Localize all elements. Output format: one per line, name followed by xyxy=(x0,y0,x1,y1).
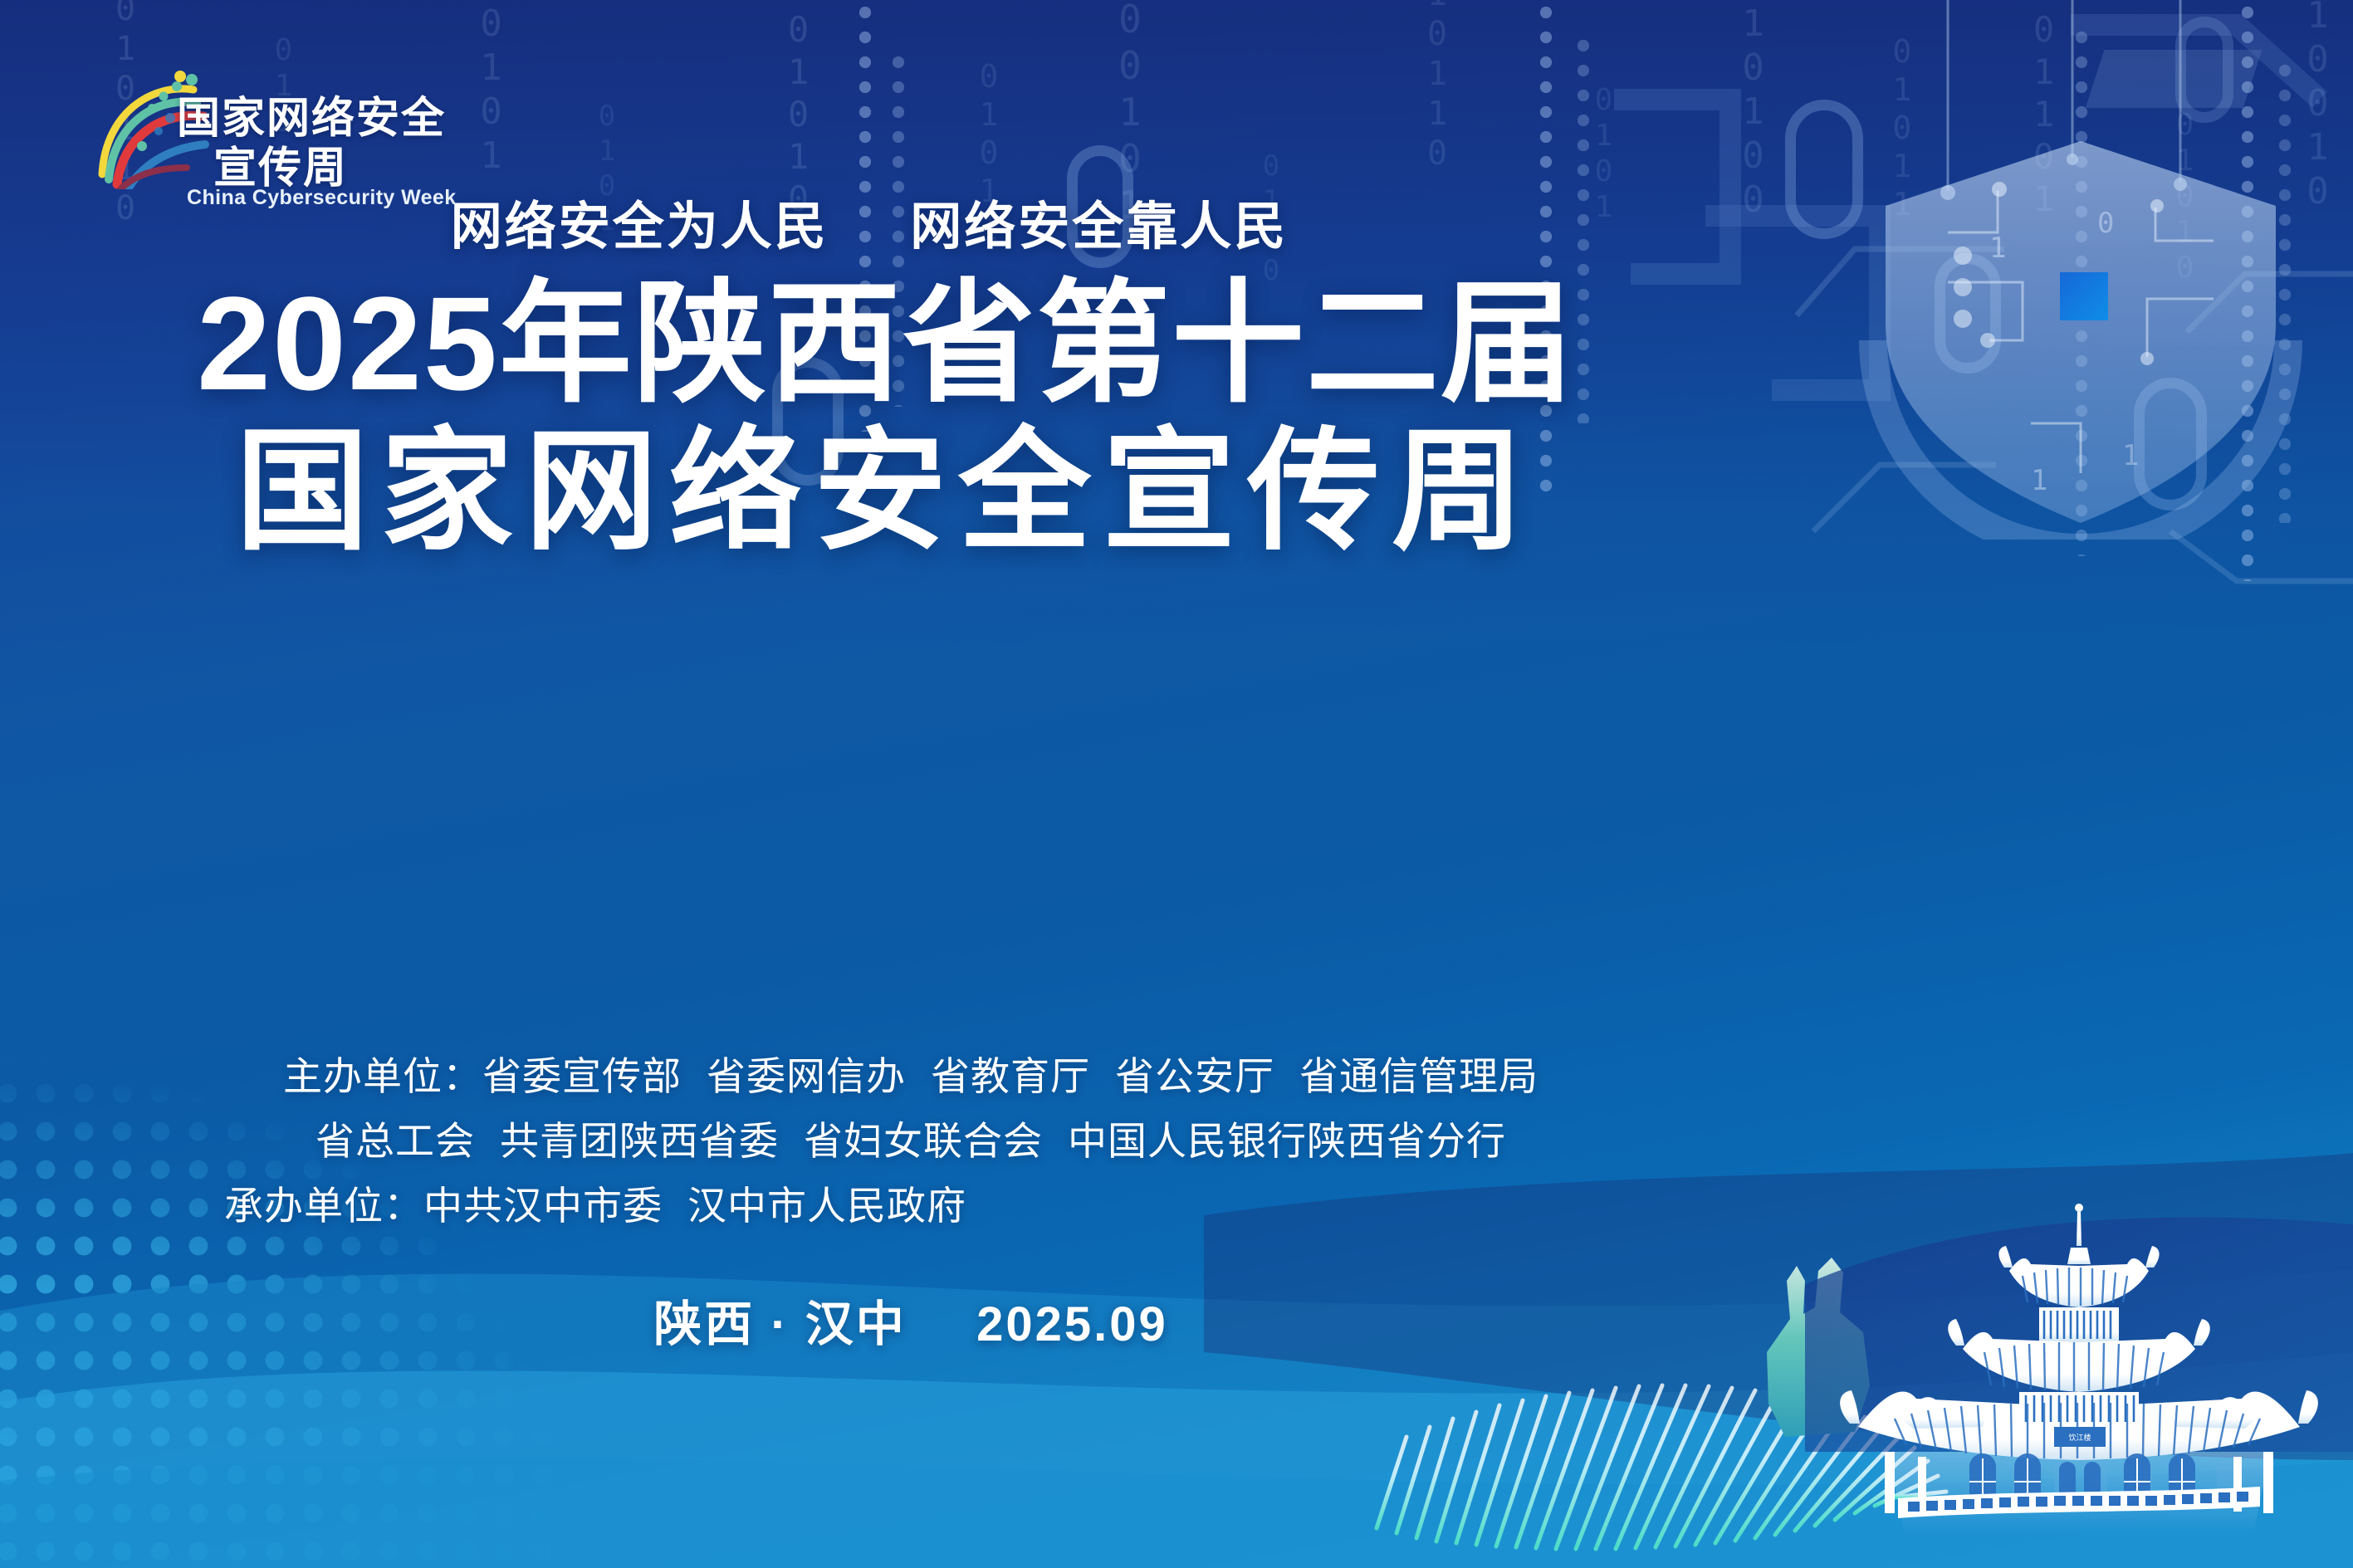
host-line-2: 省总工会共青团陕西省委省妇女联合会中国人民银行陕西省分行 xyxy=(0,1109,1822,1174)
host-org: 省教育厅 xyxy=(931,1054,1090,1098)
host-line-1: 主办单位：省委宣传部省委网信办省教育厅省公安厅省通信管理局 xyxy=(0,1044,1822,1109)
slogan: 网络安全为人民 网络安全靠人民 xyxy=(0,184,2353,259)
slogan-part-2: 网络安全靠人民 xyxy=(910,198,1288,256)
organizer-org: 中共汉中市委 xyxy=(423,1184,663,1228)
host-org: 中国人民银行陕西省分行 xyxy=(1068,1119,1506,1163)
poster-root: 1010110 0110 10101 0101 101010 01011 100… xyxy=(0,0,2353,1568)
host-org: 省妇女联合会 xyxy=(804,1119,1043,1163)
page-title-line-2: 国家网络安全宣传周 xyxy=(0,423,2353,559)
host-label: 主办单位： xyxy=(283,1054,482,1098)
host-org: 共青团陕西省委 xyxy=(500,1119,779,1163)
slogan-part-1: 网络安全为人民 xyxy=(451,198,829,256)
organizer-org: 汉中市人民政府 xyxy=(687,1184,966,1228)
host-org: 省公安厅 xyxy=(1115,1054,1274,1098)
venue-month: 2025.09 xyxy=(976,1297,1168,1351)
organizer-line: 承办单位：中共汉中市委汉中市人民政府 xyxy=(0,1174,1822,1238)
organizer-label: 承办单位： xyxy=(224,1184,423,1228)
page-title-line-1: 2025年陕西省第十二届 xyxy=(0,276,2353,411)
hanzhong-pavilion-illustration: 饮江楼 xyxy=(1805,1178,2353,1568)
host-org: 省委宣传部 xyxy=(482,1054,682,1098)
host-org: 省委网信办 xyxy=(707,1054,906,1098)
venue-location: 陕西 · 汉中 xyxy=(653,1297,907,1351)
host-org: 省总工会 xyxy=(316,1119,475,1163)
pavilion-plaque-text: 饮江楼 xyxy=(2068,1433,2091,1443)
host-org: 省通信管理局 xyxy=(1299,1054,1538,1098)
